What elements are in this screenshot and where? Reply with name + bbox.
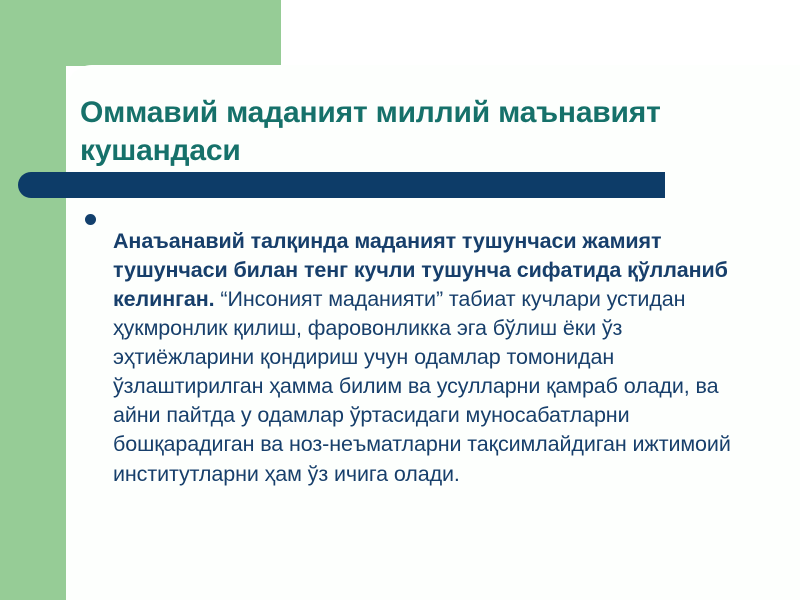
- top-green-block: [0, 0, 281, 66]
- bullet-paragraph: Анаъанавий талқинда маданият тушунчаси ж…: [113, 227, 745, 489]
- bullet-dot-icon: [85, 214, 96, 225]
- navy-accent-bar: [18, 172, 665, 198]
- slide: Оммавий маданият миллий маънавият кушанд…: [0, 0, 800, 600]
- left-green-strip: [0, 0, 66, 600]
- bullet-normal-rest: “Инсоният маданияти” табиат кучлари усти…: [113, 287, 731, 486]
- body-content: Анаъанавий талқинда маданият тушунчаси ж…: [85, 205, 745, 510]
- bullet-list-item: Анаъанавий талқинда маданият тушунчаси ж…: [85, 205, 745, 510]
- slide-title: Оммавий маданият миллий маънавият кушанд…: [80, 94, 740, 170]
